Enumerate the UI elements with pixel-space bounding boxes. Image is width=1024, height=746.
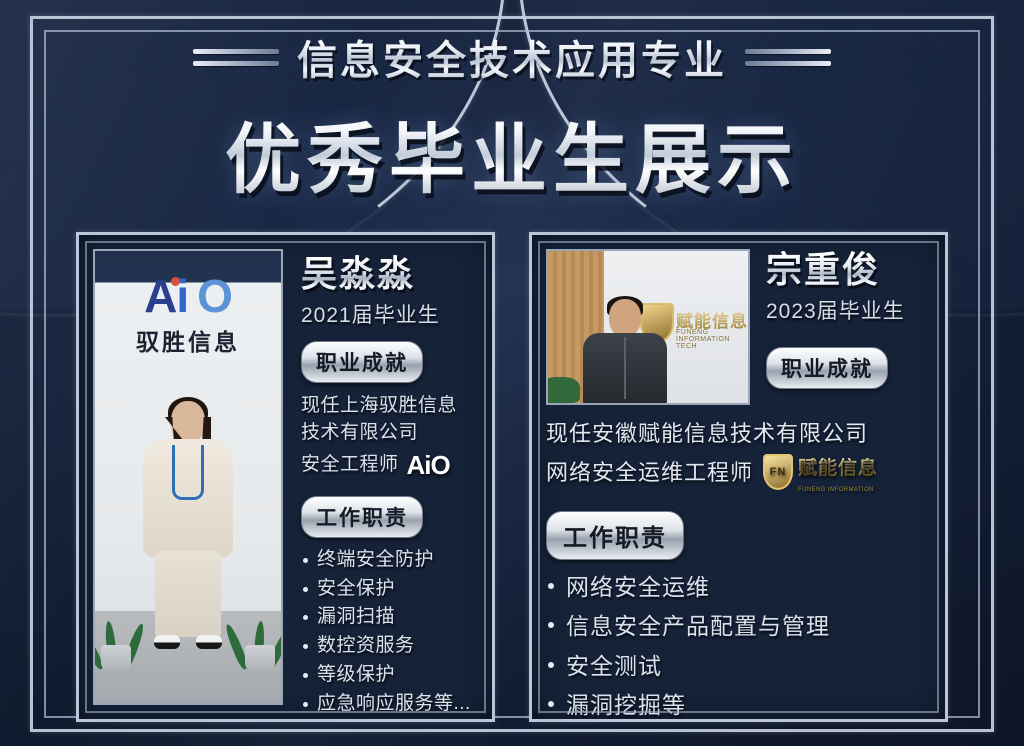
plant-left-icon bbox=[93, 599, 139, 669]
achievement-line-2: 网络安全运维工程师 bbox=[546, 456, 753, 489]
graduate-year: 2023届毕业生 bbox=[766, 295, 931, 325]
graduate-card-zong: 赋能信息 FUNENG INFORMATION TECH 宗重俊 2023届毕业… bbox=[529, 232, 948, 722]
list-item: 等级保护 bbox=[301, 661, 474, 690]
list-item: 应急响应服务等... bbox=[301, 690, 474, 719]
duties-badge: 工作职责 bbox=[546, 511, 684, 560]
achievement-line-3-row: 安全工程师 AiO bbox=[301, 447, 474, 484]
achievement-line-3: 安全工程师 bbox=[301, 452, 399, 479]
graduate-photo-zong: 赋能信息 FUNENG INFORMATION TECH bbox=[546, 249, 750, 405]
poster-header: 信息安全技术应用专业 优秀毕业生展示 bbox=[0, 28, 1024, 208]
company-logo-text: 赋能信息 bbox=[798, 458, 878, 479]
wall-company-name: 驭胜信息 bbox=[95, 323, 281, 357]
achievement-line-2-row: 网络安全运维工程师 FN 赋能信息 FUNENG INFORMATION bbox=[546, 450, 931, 495]
list-item: 漏洞挖掘等 bbox=[546, 686, 931, 726]
list-item: 安全保护 bbox=[301, 575, 474, 604]
achievement-line-1: 现任上海驭胜信息 bbox=[301, 393, 474, 420]
duties-badge: 工作职责 bbox=[301, 496, 423, 538]
wall-brand-subtitle: FUNENG INFORMATION TECH bbox=[676, 329, 748, 350]
achievement-line-2: 技术有限公司 bbox=[301, 420, 474, 447]
graduate-photo-wu: AiO 驭胜信息 bbox=[93, 249, 283, 705]
graduate-name: 宗重俊 bbox=[766, 251, 931, 289]
graduate-info-wu: 吴淼淼 2021届毕业生 职业成就 现任上海驭胜信息 技术有限公司 安全工程师 … bbox=[295, 249, 478, 705]
achievement-text: 现任上海驭胜信息 技术有限公司 安全工程师 AiO bbox=[301, 393, 474, 484]
list-item: 终端安全防护 bbox=[301, 546, 474, 575]
achievement-line-1: 现任安徽赋能信息技术有限公司 bbox=[546, 417, 931, 450]
graduate-year: 2021届毕业生 bbox=[301, 299, 474, 329]
decorative-lines-left-icon bbox=[193, 49, 279, 66]
list-item: 数控资服务 bbox=[301, 632, 474, 661]
achievement-text: 现任安徽赋能信息技术有限公司 网络安全运维工程师 FN 赋能信息 FUNENG … bbox=[546, 417, 931, 495]
graduate-cards-container: AiO 驭胜信息 bbox=[76, 232, 948, 722]
company-logo-subtext: FUNENG INFORMATION bbox=[798, 486, 878, 495]
duties-list: 网络安全运维 信息安全产品配置与管理 安全测试 漏洞挖掘等 bbox=[546, 568, 931, 726]
page-title: 优秀毕业生展示 bbox=[0, 98, 1024, 208]
duties-list: 终端安全防护 安全保护 漏洞扫描 数控资服务 等级保护 应急响应服务等... bbox=[301, 546, 474, 719]
list-item: 安全测试 bbox=[546, 647, 931, 687]
graduate-header-zong: 赋能信息 FUNENG INFORMATION TECH 宗重俊 2023届毕业… bbox=[546, 249, 931, 405]
decorative-lines-right-icon bbox=[745, 49, 831, 66]
list-item: 信息安全产品配置与管理 bbox=[546, 607, 931, 647]
subtitle-text: 信息安全技术应用专业 bbox=[297, 28, 727, 86]
list-item: 网络安全运维 bbox=[546, 568, 931, 608]
graduate-identity-zong: 宗重俊 2023届毕业生 职业成就 bbox=[766, 249, 931, 405]
achievement-badge: 职业成就 bbox=[766, 347, 888, 389]
list-item: 漏洞扫描 bbox=[301, 603, 474, 632]
wall-logo-aio: AiO 驭胜信息 bbox=[95, 273, 281, 357]
subtitle-row: 信息安全技术应用专业 bbox=[0, 28, 1024, 86]
shield-icon: FN bbox=[763, 454, 793, 490]
company-logo-funeng-icon: FN 赋能信息 FUNENG INFORMATION bbox=[763, 450, 878, 495]
company-logo-aio-icon: AiO bbox=[407, 447, 450, 484]
plant-icon bbox=[546, 377, 580, 403]
graduate-person-figure bbox=[140, 401, 236, 651]
plant-right-icon bbox=[237, 599, 283, 669]
achievement-badge: 职业成就 bbox=[301, 341, 423, 383]
graduate-name: 吴淼淼 bbox=[301, 255, 474, 293]
graduate-card-wu: AiO 驭胜信息 bbox=[76, 232, 495, 722]
graduate-person-figure bbox=[582, 299, 668, 403]
poster-canvas: 信息安全技术应用专业 优秀毕业生展示 AiO 驭胜信息 bbox=[0, 0, 1024, 746]
wall-logo-letter-o: O bbox=[197, 270, 232, 322]
